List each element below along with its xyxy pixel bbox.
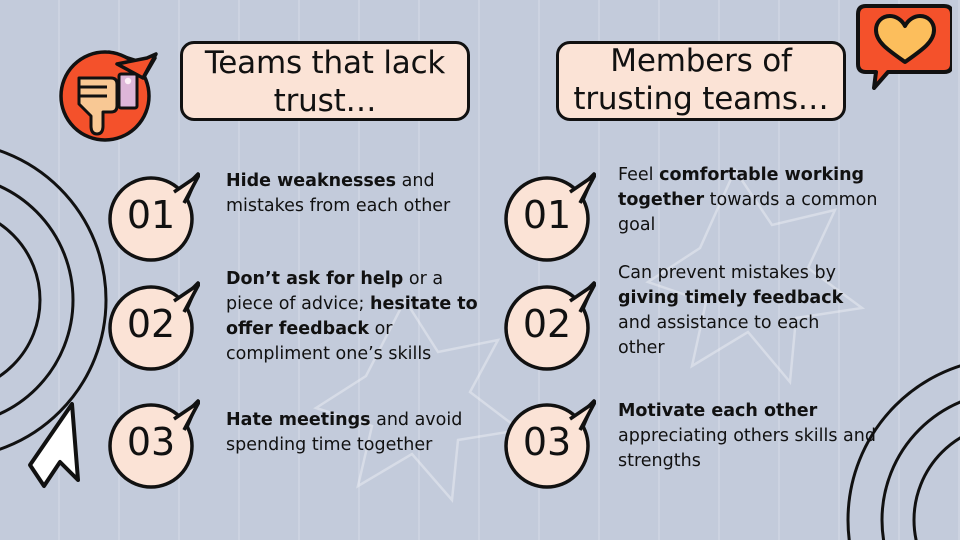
right-item-text-03: Motivate each other appreciating others … bbox=[618, 399, 880, 474]
concentric-arc-right-mid bbox=[882, 392, 960, 540]
right-item-number-03: 03 bbox=[504, 399, 590, 485]
slide-canvas: Teams that lack trust… 01 Hide weaknesse… bbox=[0, 0, 960, 540]
concentric-arc-left-outer bbox=[0, 142, 106, 458]
right-item-text-01: Feel comfortable working together toward… bbox=[618, 163, 893, 238]
right-item-number-02: 02 bbox=[504, 281, 590, 367]
concentric-arc-left-inner bbox=[0, 208, 40, 392]
left-item-number-03: 03 bbox=[108, 399, 194, 485]
left-title-text: Teams that lack trust… bbox=[180, 44, 470, 120]
right-title-text: Members of trusting teams… bbox=[556, 42, 846, 118]
left-item-number-02: 02 bbox=[108, 281, 194, 367]
right-item-number-01: 01 bbox=[504, 172, 590, 258]
cursor-arrow-icon bbox=[30, 404, 78, 486]
left-item-text-01: Hide weaknesses and mistakes from each o… bbox=[226, 169, 491, 219]
right-item-text-02: Can prevent mistakes by giving timely fe… bbox=[618, 261, 868, 361]
left-item-text-03: Hate meetings and avoid spending time to… bbox=[226, 408, 488, 458]
left-item-number-01: 01 bbox=[108, 172, 194, 258]
left-item-text-02: Don’t ask for help or a piece of advice;… bbox=[226, 267, 488, 367]
concentric-arc-right-inner bbox=[914, 424, 960, 540]
concentric-arc-left-mid bbox=[0, 175, 73, 425]
thumbs-down-icon bbox=[55, 48, 165, 144]
heart-speech-bubble-icon bbox=[852, 2, 952, 90]
